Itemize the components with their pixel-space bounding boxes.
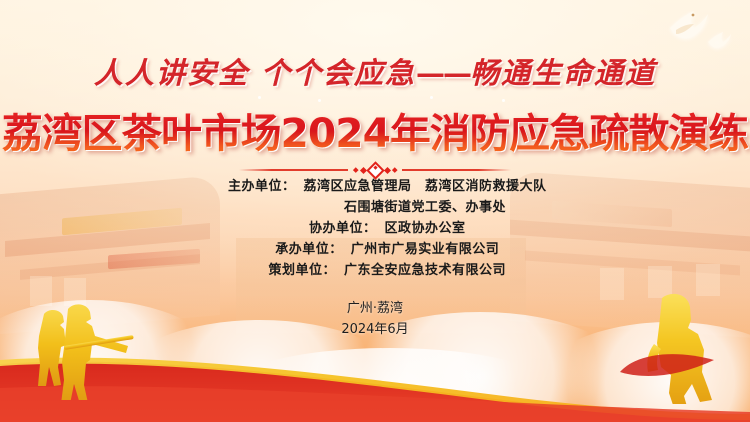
organizer-row: 策划单位： 广东全安应急技术有限公司 [0,260,750,281]
diamond-small [392,168,397,173]
organizer-row: 协办单位： 区政协办公室 [0,218,750,239]
divider-line-left [239,169,348,171]
organizer-value: 广州市广易实业有限公司 [351,239,500,260]
organizer-label: 承办单位： [251,239,343,260]
poster-canvas: 人人讲安全 个个会应急——畅通生命通道 荔湾区茶叶市场2024年消防应急疏散演练… [0,0,750,422]
page-title: 荔湾区茶叶市场2024年消防应急疏散演练 [0,101,750,159]
organizer-label: 主办单位： [203,176,295,197]
slogan-part-1: 人人讲安全 个个会应急 [94,56,416,90]
slogan-part-2: 畅通生命通道 [470,56,656,90]
organizer-block: 主办单位： 荔湾区应急管理局 荔湾区消防救援大队 石围塘街道党工委、办事处 协办… [0,176,750,281]
organizer-value: 荔湾区应急管理局 荔湾区消防救援大队 [303,176,546,197]
decorative-divider [239,163,511,177]
date-text: 2024年6月 [0,319,750,340]
footer-block: 广州·荔湾 2024年6月 [0,298,750,340]
organizer-value: 石围塘街道党工委、办事处 [344,197,506,218]
slogan-text: 人人讲安全 个个会应急——畅通生命通道 [0,50,750,92]
location-text: 广州·荔湾 [0,298,750,319]
organizer-label: 策划单位： [244,260,336,281]
dove-icon [666,8,710,42]
slogan-dash: —— [416,56,470,90]
organizer-value: 区政协办公室 [384,218,465,239]
red-fan-accent [618,346,718,380]
diamond-mid [383,166,390,173]
organizer-row: 石围塘街道党工委、办事处 [0,197,750,218]
organizer-label: 协办单位： [284,218,376,239]
organizer-value: 广东全安应急技术有限公司 [344,260,506,281]
organizer-row: 主办单位： 荔湾区应急管理局 荔湾区消防救援大队 [0,176,750,197]
divider-line-right [402,169,511,171]
sparkle [258,96,261,99]
dove-icon [706,30,732,50]
diamond-ornament-icon [354,164,396,177]
organizer-row: 承办单位： 广州市广易实业有限公司 [0,239,750,260]
sparkle [430,96,433,99]
diamond-small [353,168,358,173]
